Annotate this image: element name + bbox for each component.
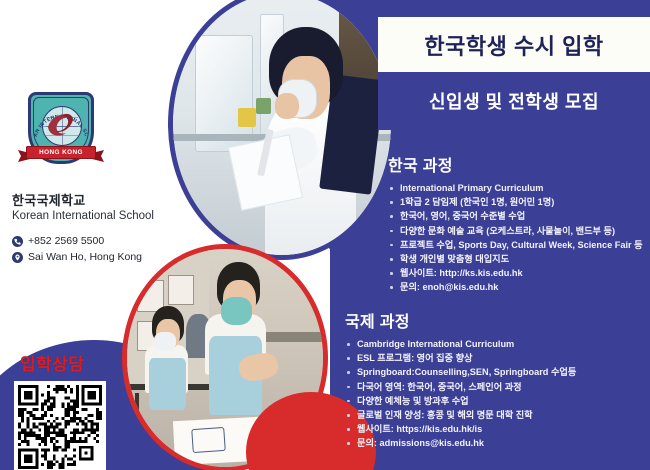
phone-number: +852 2569 5500 <box>28 235 104 247</box>
qr-label: 입학상담 <box>20 350 106 375</box>
school-identity-block: KOREAN INTERNATIONAL SCHOOL HONG KONG 한국… <box>8 92 168 267</box>
international-curriculum-section: 국제 과정 Cambridge International Curriculum… <box>345 308 645 451</box>
list-item: 1학급 2 담임제 (한국인 1명, 원어민 1명) <box>388 195 646 209</box>
admissions-qr-block[interactable]: 입학상담 <box>14 350 106 470</box>
list-item: ESL 프로그램: 영어 집중 향상 <box>345 351 645 365</box>
list-item: 문의: admissions@kis.edu.hk <box>345 436 645 450</box>
poster-title-banner: 한국학생 수시 입학 <box>378 17 650 72</box>
location-pin-icon <box>12 252 23 263</box>
school-name-korean: 한국국제학교 <box>12 190 168 209</box>
list-item: 학생 개인별 맞춤형 대입지도 <box>388 252 646 266</box>
international-curriculum-heading: 국제 과정 <box>345 308 645 332</box>
list-item: 웹사이트: http://ks.kis.edu.hk <box>388 266 646 280</box>
list-item: International Primary Curriculum <box>388 181 646 195</box>
admissions-poster: 한국학생 수시 입학 신입생 및 전학생 모집 한국 과정 Internatio… <box>0 0 650 470</box>
list-item: 웹사이트: https://kis.edu.hk/is <box>345 422 645 436</box>
international-curriculum-list: Cambridge International Curriculum ESL 프… <box>345 337 645 451</box>
list-item: 한국어, 영어, 중국어 수준별 수업 <box>388 209 646 223</box>
qr-code-icon[interactable] <box>14 381 106 470</box>
list-item: 다국어 영역: 한국어, 중국어, 스페인어 과정 <box>345 380 645 394</box>
list-item: 다양한 예체능 및 방과후 수업 <box>345 394 645 408</box>
korean-curriculum-section: 한국 과정 International Primary Curriculum 1… <box>388 152 646 295</box>
page-subtitle: 신입생 및 전학생 모집 <box>429 88 599 114</box>
list-item: Springboard:Counselling,SEN, Springboard… <box>345 365 645 379</box>
contact-phone-row: +852 2569 5500 <box>12 235 168 247</box>
taegeuk-swirl-icon <box>46 110 76 138</box>
science-lab-photo <box>168 0 396 260</box>
list-item: 프로젝트 수업, Sports Day, Cultural Week, Scie… <box>388 238 646 252</box>
korean-curriculum-heading: 한국 과정 <box>388 152 646 176</box>
phone-icon <box>12 236 23 247</box>
list-item: 문의: enoh@kis.edu.hk <box>388 280 646 294</box>
location-text: Sai Wan Ho, Hong Kong <box>28 251 142 263</box>
page-title: 한국학생 수시 입학 <box>424 29 603 61</box>
poster-subtitle-banner: 신입생 및 전학생 모집 <box>378 72 650 130</box>
list-item: 다양한 문화 예술 교육 (오케스트라, 사물놀이, 밴드부 등) <box>388 224 646 238</box>
list-item: 글로벌 인재 양성: 홍콩 및 해외 명문 대학 진학 <box>345 408 645 422</box>
list-item: Cambridge International Curriculum <box>345 337 645 351</box>
school-name-english: Korean International School <box>12 210 168 222</box>
korean-curriculum-list: International Primary Curriculum 1학급 2 담… <box>388 181 646 295</box>
contact-location-row: Sai Wan Ho, Hong Kong <box>12 251 168 263</box>
crest-banner-label: HONG KONG <box>26 146 96 159</box>
contact-info: +852 2569 5500 Sai Wan Ho, Hong Kong <box>12 235 168 263</box>
school-crest-logo: KOREAN INTERNATIONAL SCHOOL HONG KONG <box>22 92 100 176</box>
